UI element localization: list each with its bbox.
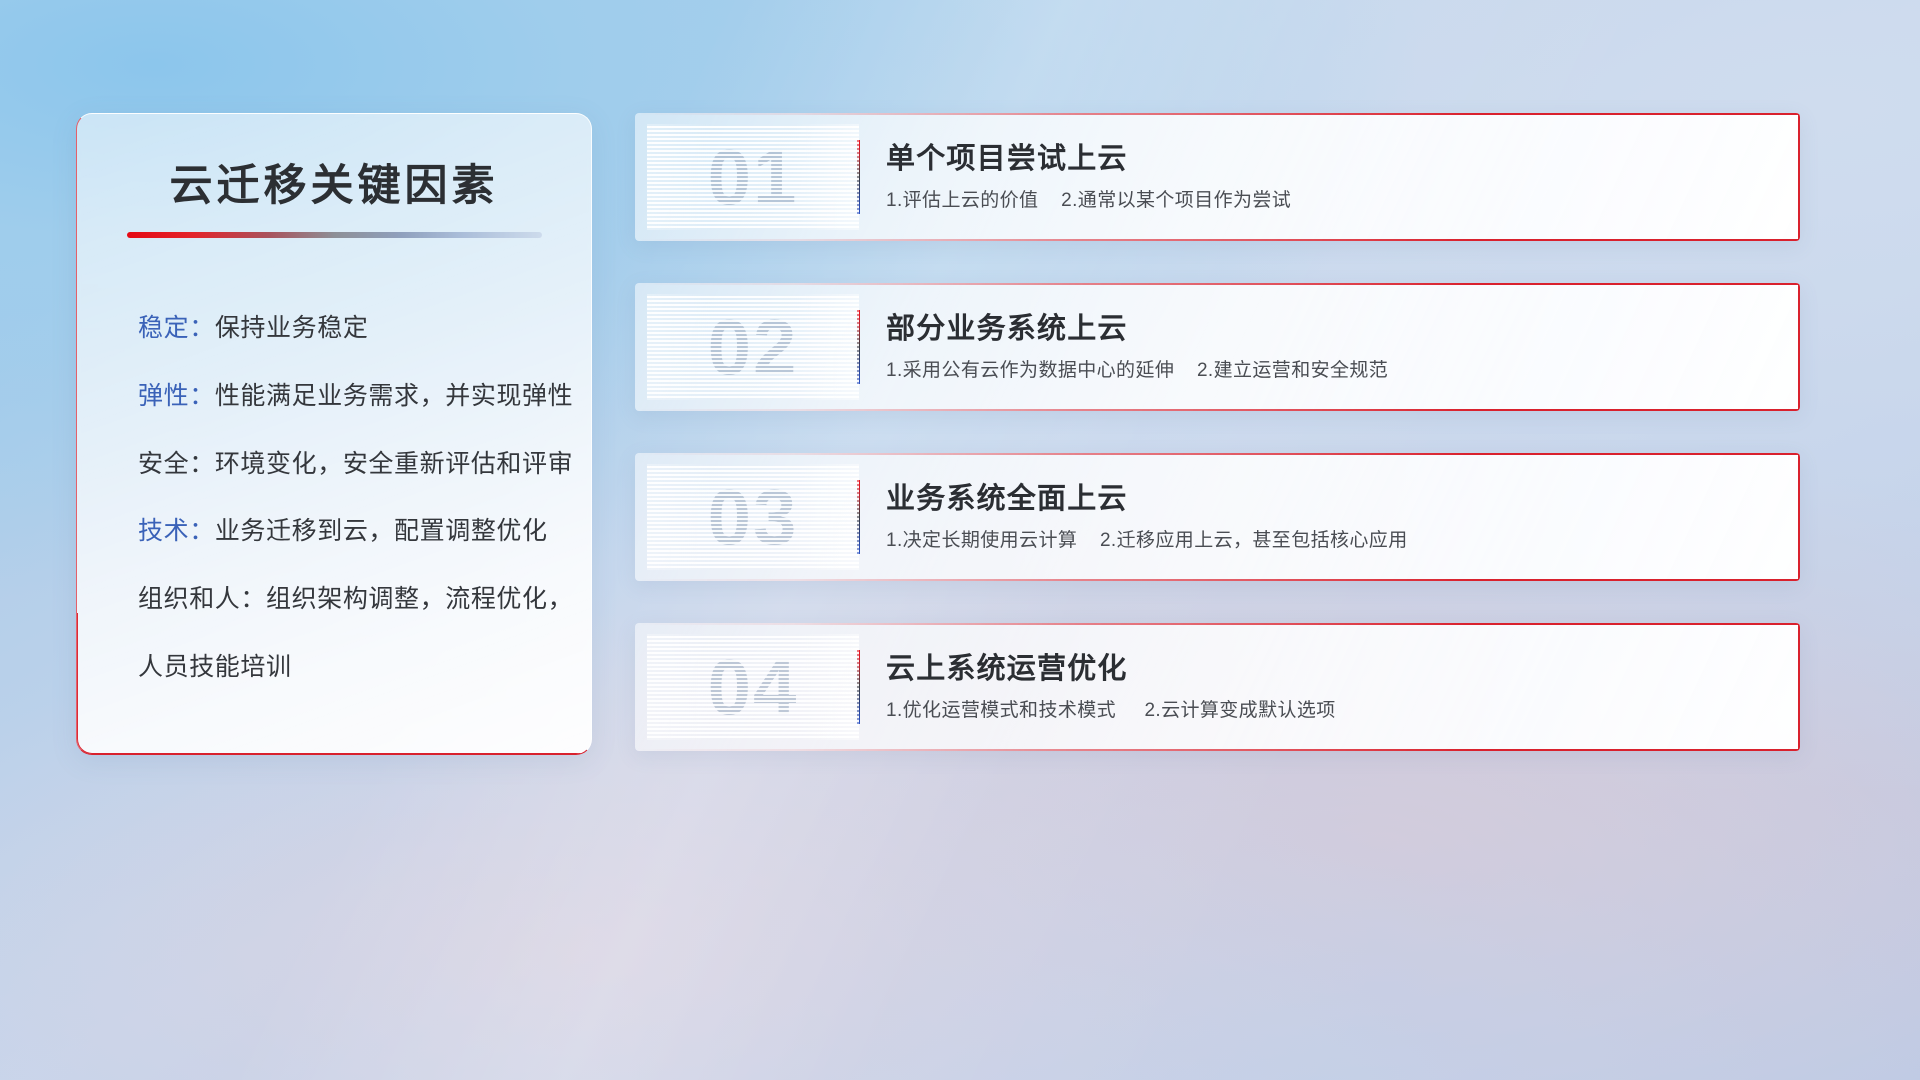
factor-text: 性能满足业务需求，并实现弹性 xyxy=(215,382,573,410)
card-bottom-rule xyxy=(635,579,1800,581)
stage-number: 02 xyxy=(653,308,853,386)
stage-title: 云上系统运营优化 xyxy=(886,652,1772,687)
factor-label: 技术： xyxy=(138,517,215,545)
list-item: 人员技能培训 xyxy=(138,653,551,682)
factor-text: 保持业务稳定 xyxy=(215,314,369,342)
stage-number: 03 xyxy=(653,478,853,556)
factor-text: 环境变化，安全重新评估和评审 xyxy=(215,450,573,478)
card-top-rule xyxy=(635,113,1800,115)
stage-card-04[interactable]: 04 云上系统运营优化 1.优化运营模式和技术模式 2.云计算变成默认选项 xyxy=(635,623,1800,751)
stage-divider-bar xyxy=(857,310,860,384)
stage-subtitle: 1.决定长期使用云计算 2.迁移应用上云，甚至包括核心应用 xyxy=(886,529,1772,553)
stage-card-body: 单个项目尝试上云 1.评估上云的价值 2.通常以某个项目作为尝试 xyxy=(886,142,1800,213)
stage-card-02[interactable]: 02 部分业务系统上云 1.采用公有云作为数据中心的延伸 2.建立运营和安全规范 xyxy=(635,283,1800,411)
list-item: 稳定：保持业务稳定 xyxy=(138,314,551,343)
factor-text: 业务迁移到云，配置调整优化 xyxy=(215,517,548,545)
card-bottom-rule xyxy=(635,239,1800,241)
stage-divider-bar xyxy=(857,650,860,724)
card-top-rule xyxy=(635,623,1800,625)
stage-card-body: 云上系统运营优化 1.优化运营模式和技术模式 2.云计算变成默认选项 xyxy=(886,652,1800,723)
title-underline-rule xyxy=(127,232,542,238)
card-bottom-rule xyxy=(635,409,1800,411)
stage-subtitle: 1.优化运营模式和技术模式 2.云计算变成默认选项 xyxy=(886,699,1772,723)
stage-number: 04 xyxy=(653,648,853,726)
stage-title: 业务系统全面上云 xyxy=(886,482,1772,517)
list-item: 安全：环境变化，安全重新评估和评审 xyxy=(138,450,551,479)
stage-card-list: 01 单个项目尝试上云 1.评估上云的价值 2.通常以某个项目作为尝试 02 部… xyxy=(635,113,1800,751)
stage-card-03[interactable]: 03 业务系统全面上云 1.决定长期使用云计算 2.迁移应用上云，甚至包括核心应… xyxy=(635,453,1800,581)
card-top-rule xyxy=(635,283,1800,285)
stage-subtitle: 1.评估上云的价值 2.通常以某个项目作为尝试 xyxy=(886,189,1772,213)
slide-stage: 云迁移关键因素 稳定：保持业务稳定 弹性：性能满足业务需求，并实现弹性 安全：环… xyxy=(0,0,1920,1080)
card-bottom-rule xyxy=(635,749,1800,751)
factor-list: 稳定：保持业务稳定 弹性：性能满足业务需求，并实现弹性 安全：环境变化，安全重新… xyxy=(117,314,551,682)
stage-title: 单个项目尝试上云 xyxy=(886,142,1772,177)
factor-label: 稳定： xyxy=(138,314,215,342)
factor-label: 组织和人： xyxy=(138,585,266,613)
factor-text: 人员技能培训 xyxy=(138,653,292,681)
stage-number: 01 xyxy=(653,138,853,216)
stage-subtitle: 1.采用公有云作为数据中心的延伸 2.建立运营和安全规范 xyxy=(886,359,1772,383)
stage-title: 部分业务系统上云 xyxy=(886,312,1772,347)
stage-card-body: 业务系统全面上云 1.决定长期使用云计算 2.迁移应用上云，甚至包括核心应用 xyxy=(886,482,1800,553)
factor-label: 安全： xyxy=(138,450,215,478)
factor-text: 组织架构调整，流程优化， xyxy=(266,585,573,613)
list-item: 技术：业务迁移到云，配置调整优化 xyxy=(138,517,551,546)
page-title: 云迁移关键因素 xyxy=(117,148,551,210)
stage-divider-bar xyxy=(857,480,860,554)
list-item: 组织和人：组织架构调整，流程优化， xyxy=(138,585,551,614)
key-factors-panel-inner: 云迁移关键因素 稳定：保持业务稳定 弹性：性能满足业务需求，并实现弹性 安全：环… xyxy=(77,114,591,754)
card-top-rule xyxy=(635,453,1800,455)
stage-card-01[interactable]: 01 单个项目尝试上云 1.评估上云的价值 2.通常以某个项目作为尝试 xyxy=(635,113,1800,241)
list-item: 弹性：性能满足业务需求，并实现弹性 xyxy=(138,382,551,411)
key-factors-panel: 云迁移关键因素 稳定：保持业务稳定 弹性：性能满足业务需求，并实现弹性 安全：环… xyxy=(76,113,592,755)
stage-card-body: 部分业务系统上云 1.采用公有云作为数据中心的延伸 2.建立运营和安全规范 xyxy=(886,312,1800,383)
factor-label: 弹性： xyxy=(138,382,215,410)
stage-divider-bar xyxy=(857,140,860,214)
